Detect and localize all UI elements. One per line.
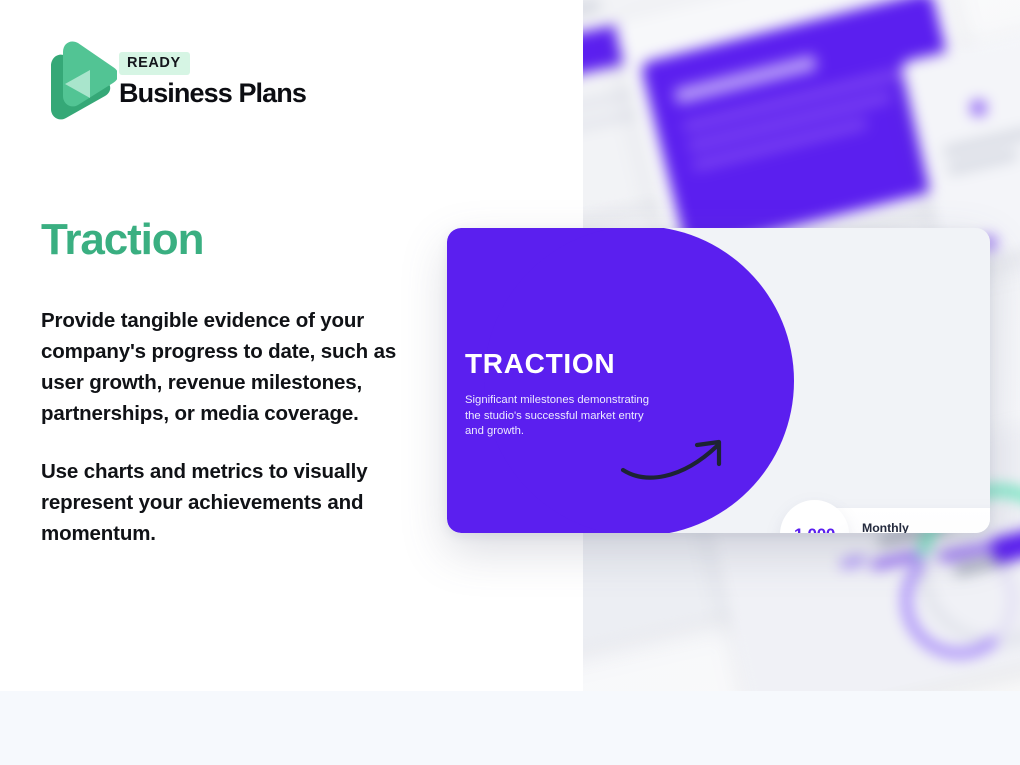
bottom-band: [0, 691, 1020, 765]
brand-header: READY Business Plans: [41, 38, 461, 124]
metric-bubble: 1,000: [780, 500, 849, 533]
slide-preview-page: READY Business Plans Traction Provide ta…: [0, 0, 1020, 765]
brand-title: Business Plans: [119, 78, 439, 109]
play-triangle-logo-icon: [41, 40, 117, 122]
ready-badge: READY: [119, 52, 190, 75]
body-copy: Provide tangible evidence of your compan…: [41, 305, 431, 549]
page-title: Traction: [41, 218, 203, 262]
curved-arrow-up-right-icon: [619, 426, 739, 486]
brand-text: READY Business Plans: [119, 52, 439, 109]
body-paragraph-2: Use charts and metrics to visually repre…: [41, 456, 431, 549]
metric-value: 1,000: [794, 526, 835, 533]
metrics-group: Monthly Visitors 1,000 Workshops Held 75…: [447, 228, 990, 533]
metric-label: Monthly Visitors: [862, 508, 909, 533]
slide-card-preview[interactable]: TRACTION Significant milestones demonstr…: [447, 228, 990, 533]
slide-heading: TRACTION: [465, 350, 615, 378]
body-paragraph-1: Provide tangible evidence of your compan…: [41, 305, 431, 429]
